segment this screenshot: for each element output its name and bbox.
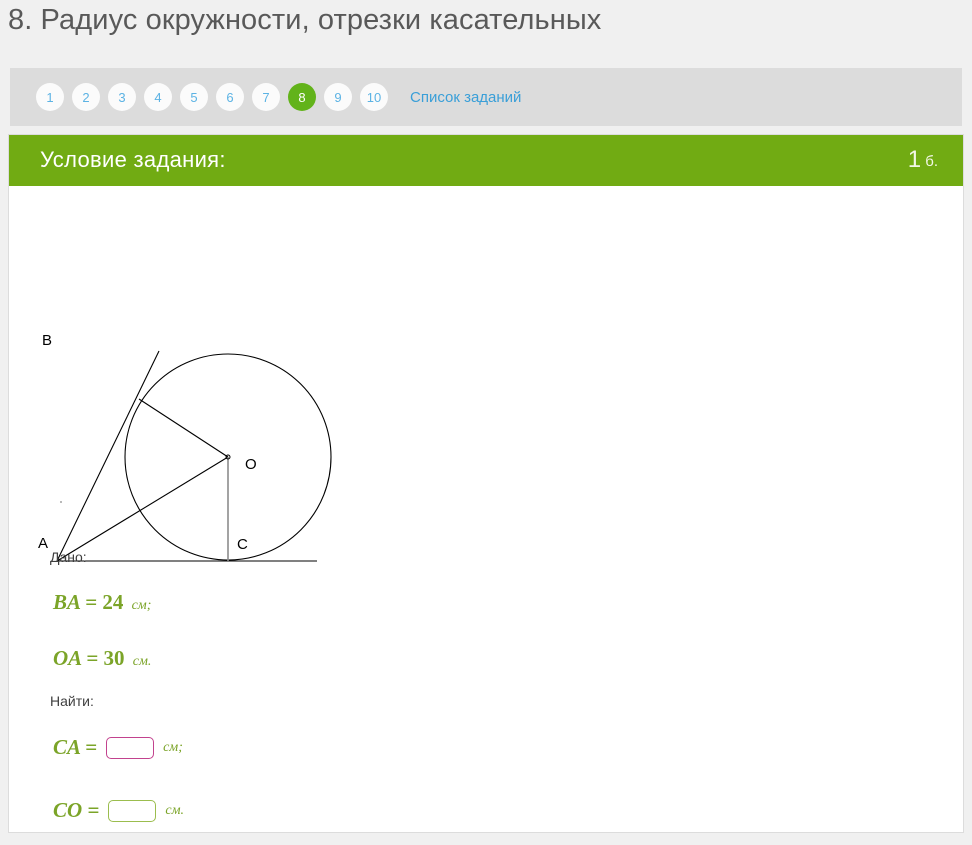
- task-card-header: Условие задания: 1 б.: [9, 135, 963, 186]
- task-card: Условие задания: 1 б. B O C: [8, 134, 964, 833]
- radius-ob: [139, 399, 228, 457]
- given-line-2-lhs: OA: [53, 646, 81, 670]
- pagination-item-10[interactable]: 10: [360, 83, 388, 111]
- label-b: B: [42, 332, 52, 349]
- given-line-2-value: 30: [103, 646, 124, 670]
- label-a: A: [38, 535, 48, 552]
- pagination-item-7[interactable]: 7: [252, 83, 280, 111]
- label-o: O: [245, 456, 257, 473]
- task-points-number: 1: [908, 146, 921, 173]
- geometry-diagram: B O C A: [9, 186, 409, 586]
- given-line-1-value: 24: [102, 590, 123, 614]
- page-title: 8. Радиус окружности, отрезки касательны…: [8, 4, 601, 37]
- pagination-item-3[interactable]: 3: [108, 83, 136, 111]
- given-line-1-eq: =: [85, 590, 97, 614]
- answer-row-ca: CA = см;: [53, 735, 183, 760]
- answer-input-co[interactable]: [108, 800, 156, 822]
- task-points-badge: 1 б.: [908, 146, 938, 174]
- pagination-item-1[interactable]: 1: [36, 83, 64, 111]
- find-label: Найти:: [50, 693, 94, 709]
- pagination-item-4[interactable]: 4: [144, 83, 172, 111]
- given-line-2-eq: =: [86, 646, 98, 670]
- given-line-1: BA = 24 см;: [53, 590, 151, 615]
- answer-row-co: CO = см.: [53, 798, 184, 823]
- given-line-1-unit: см;: [132, 598, 152, 613]
- page-root: 8. Радиус окружности, отрезки касательны…: [0, 0, 972, 845]
- given-line-2-unit: см.: [133, 654, 152, 669]
- given-line-1-lhs: BA: [53, 590, 80, 614]
- pagination-item-5[interactable]: 5: [180, 83, 208, 111]
- stray-dot-artifact: [60, 501, 62, 503]
- task-points-unit: б.: [925, 153, 938, 170]
- answer-row-ca-unit: см;: [163, 740, 183, 756]
- label-c: C: [237, 536, 248, 553]
- answer-row-co-unit: см.: [165, 803, 184, 819]
- pagination-item-8-current[interactable]: 8: [288, 83, 316, 111]
- task-list-link[interactable]: Список заданий: [410, 89, 521, 106]
- pagination-item-2[interactable]: 2: [72, 83, 100, 111]
- answer-row-ca-lhs: CA =: [53, 735, 97, 760]
- answer-row-co-lhs: CO =: [53, 798, 99, 823]
- given-label: Дано:: [50, 549, 87, 565]
- pagination-item-6[interactable]: 6: [216, 83, 244, 111]
- task-condition-title: Условие задания:: [40, 147, 226, 173]
- pagination-list: 1 2 3 4 5 6 7 8 9 10 Список заданий: [36, 68, 521, 126]
- given-line-2: OA = 30 см.: [53, 646, 151, 671]
- answer-input-ca[interactable]: [106, 737, 154, 759]
- pagination-item-9[interactable]: 9: [324, 83, 352, 111]
- pagination-bar: 1 2 3 4 5 6 7 8 9 10 Список заданий: [10, 68, 962, 126]
